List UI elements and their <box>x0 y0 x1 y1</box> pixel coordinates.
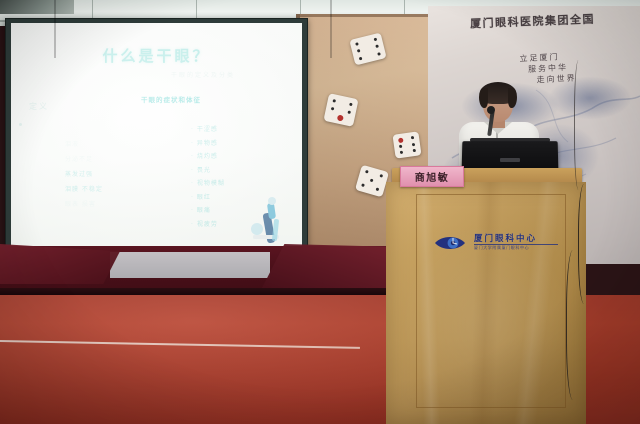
slide-left-heading: 定义 <box>29 101 49 112</box>
dice-decoration <box>392 131 421 158</box>
laptop[interactable] <box>462 141 559 170</box>
slide-list-item: 烧灼感 <box>191 150 302 164</box>
projection-screen: 什么是干眼？ 干眼的定义及分类 定义 干眼的症状和体征 泪液 分泌不足 蒸发过强… <box>11 23 302 261</box>
stage-skirt <box>110 252 270 278</box>
wall-panel-edge-top <box>296 14 428 17</box>
lecture-hall-photo: 厦门眼科医院集团全国 立足厦门 服务中华 走向世界 什么是干眼？ 干眼的定义及分… <box>0 0 640 424</box>
curtain-fold <box>330 0 332 58</box>
lectern-logo-en: 厦门大学附属厦门眼科中心 <box>474 245 529 251</box>
projection-screen-frame: 什么是干眼？ 干眼的定义及分类 定义 干眼的症状和体征 泪液 分泌不足 蒸发过强… <box>5 18 308 267</box>
slide-list-item: 干涩感 <box>191 123 302 137</box>
lectern-logo: 厦门眼科中心 厦门大学附属厦门眼科中心 <box>434 232 564 258</box>
name-plate-label: 商旭敏 <box>415 169 450 184</box>
curtain-fold <box>54 0 56 58</box>
slide-column-heading: 干眼的症状和体征 <box>141 94 261 104</box>
slide-list-item: 视物模糊 <box>191 177 302 191</box>
speaker-hair-side <box>479 88 488 108</box>
eye-logo-icon <box>434 234 466 252</box>
laptop-brand-logo <box>500 158 520 162</box>
slide-secondary-heading: 干眼的定义及分类 <box>171 70 301 79</box>
lectern-body <box>386 182 586 424</box>
cable <box>574 60 585 190</box>
ceiling-vent <box>0 0 74 14</box>
slide-bullet-marker <box>19 123 22 126</box>
slide-list-item: 异物感 <box>191 137 302 151</box>
name-plate: 商旭敏 <box>400 166 464 187</box>
cable <box>566 250 583 400</box>
dice-decoration <box>323 93 358 127</box>
slide-list-item: 畏光 <box>191 164 302 178</box>
lectern-panel-inset <box>416 194 566 408</box>
microphone-head-icon <box>487 106 495 114</box>
lectern-logo-cn: 厦门眼科中心 <box>474 232 537 244</box>
